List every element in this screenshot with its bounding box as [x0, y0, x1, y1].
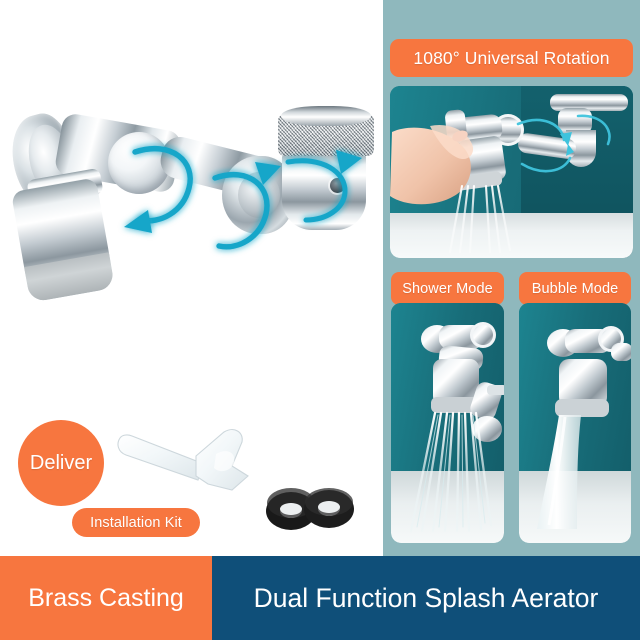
rotation-badge: 1080° Universal Rotation	[390, 39, 633, 77]
plastic-wrench-icon	[112, 424, 262, 502]
rubber-washers-icon	[264, 488, 356, 532]
bubble-mode-illustration	[519, 303, 631, 543]
rotation-demo-photo	[390, 86, 633, 258]
banner-right-block: Dual Function Splash Aerator	[212, 556, 640, 640]
brass-casting-label: Brass Casting	[28, 584, 184, 613]
shower-mode-badge: Shower Mode	[391, 272, 504, 305]
deliver-badge-label: Deliver	[18, 420, 104, 506]
product-marketing-image: Deliver Installation Kit 1080° Universal…	[0, 0, 640, 640]
bubble-mode-badge: Bubble Mode	[519, 272, 631, 305]
bubble-mode-photo	[519, 303, 631, 543]
shower-mode-illustration	[391, 303, 504, 543]
installation-kit-badge: Installation Kit	[72, 508, 200, 537]
product-title-label: Dual Function Splash Aerator	[254, 583, 599, 614]
bottom-banner: Brass Casting Dual Function Splash Aerat…	[0, 556, 640, 640]
deliver-badge: Deliver	[18, 420, 104, 506]
shower-mode-photo	[391, 303, 504, 543]
rotation-demo-illustration	[390, 86, 633, 258]
hero-product-image	[0, 96, 383, 326]
rotation-arrows-overlay	[0, 96, 383, 326]
banner-left-block: Brass Casting	[0, 556, 212, 640]
